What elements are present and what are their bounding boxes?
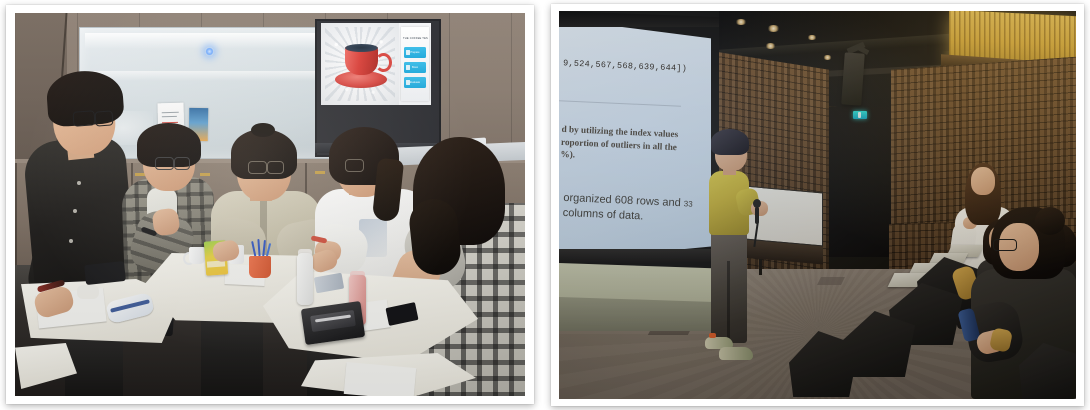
slide-button-label: Brew [412, 66, 418, 69]
smartphone [84, 261, 126, 285]
downlight [807, 35, 817, 40]
orange-pen-cup [249, 256, 271, 278]
microphone [755, 207, 759, 224]
water-droplets [327, 31, 393, 99]
shirt-button [73, 209, 77, 213]
floor-grate [817, 277, 845, 285]
downlight [735, 19, 747, 25]
glasses-icon [248, 161, 267, 174]
glasses-icon [345, 159, 364, 172]
slide-title: THE COFFEE TEST [403, 37, 428, 40]
photo-card-lecture-hall[interactable]: ...... 9,524,567,568,639,644]) d by util… [551, 4, 1084, 406]
beans-icon [406, 65, 410, 70]
glasses-icon [993, 239, 1017, 251]
presenter-shoe [719, 347, 753, 360]
downlight [765, 43, 776, 49]
cabinet-handle [315, 171, 325, 174]
paper-sheet [344, 362, 417, 396]
slide-summary-columns: 33 [684, 199, 693, 208]
cup-icon [406, 50, 410, 55]
light-reflection-dot [205, 47, 214, 56]
whiteboard-leg [759, 259, 762, 275]
hair-bun [1035, 207, 1065, 235]
glasses-icon [73, 110, 96, 126]
screenshot-stage: THE COFFEE TEST Prepare Brew Evaluate [0, 0, 1090, 410]
whiteboard-glare-top [85, 33, 325, 49]
photo-card-classroom[interactable]: THE COFFEE TEST Prepare Brew Evaluate [6, 5, 534, 404]
glasses-icon [267, 161, 284, 174]
slide-paragraph: d by utilizing the index values roportio… [560, 123, 700, 167]
clipboard-icon [406, 80, 410, 85]
shoe-accent [709, 333, 716, 338]
presenter-leg-shadow [727, 261, 730, 341]
slide-button-brew: Brew [404, 62, 426, 73]
lecture-hall-presentation-photo: ...... 9,524,567,568,639,644]) d by util… [559, 11, 1076, 399]
shirt-button [69, 239, 73, 243]
downlight [823, 55, 832, 60]
exit-running-man-icon [858, 112, 861, 118]
glasses-icon [155, 157, 174, 170]
downlight [767, 25, 780, 32]
white-mug [189, 247, 205, 264]
cabinet-handle [200, 173, 210, 176]
glasses-icon [94, 110, 113, 126]
whiteboard-glare-mid [85, 71, 325, 81]
slide-button-label: Evaluate [410, 81, 420, 84]
white-thermos [297, 253, 313, 305]
standing-audience-head [971, 167, 995, 195]
glasses-icon [174, 157, 190, 170]
side-wall-panel-lower [559, 297, 729, 331]
slide-button-evaluate: Evaluate [404, 77, 426, 88]
slide-button-label: Prepare [410, 51, 419, 54]
presenter-hair [711, 129, 749, 155]
hair-bun [251, 123, 275, 137]
shirt-button [77, 181, 81, 185]
slide-button-prepare: Prepare [404, 47, 426, 58]
desk-leg [201, 313, 263, 396]
classroom-group-discussion-photo: THE COFFEE TEST Prepare Brew Evaluate [15, 13, 525, 396]
tissue [77, 285, 99, 299]
ceiling-speaker [841, 52, 865, 105]
